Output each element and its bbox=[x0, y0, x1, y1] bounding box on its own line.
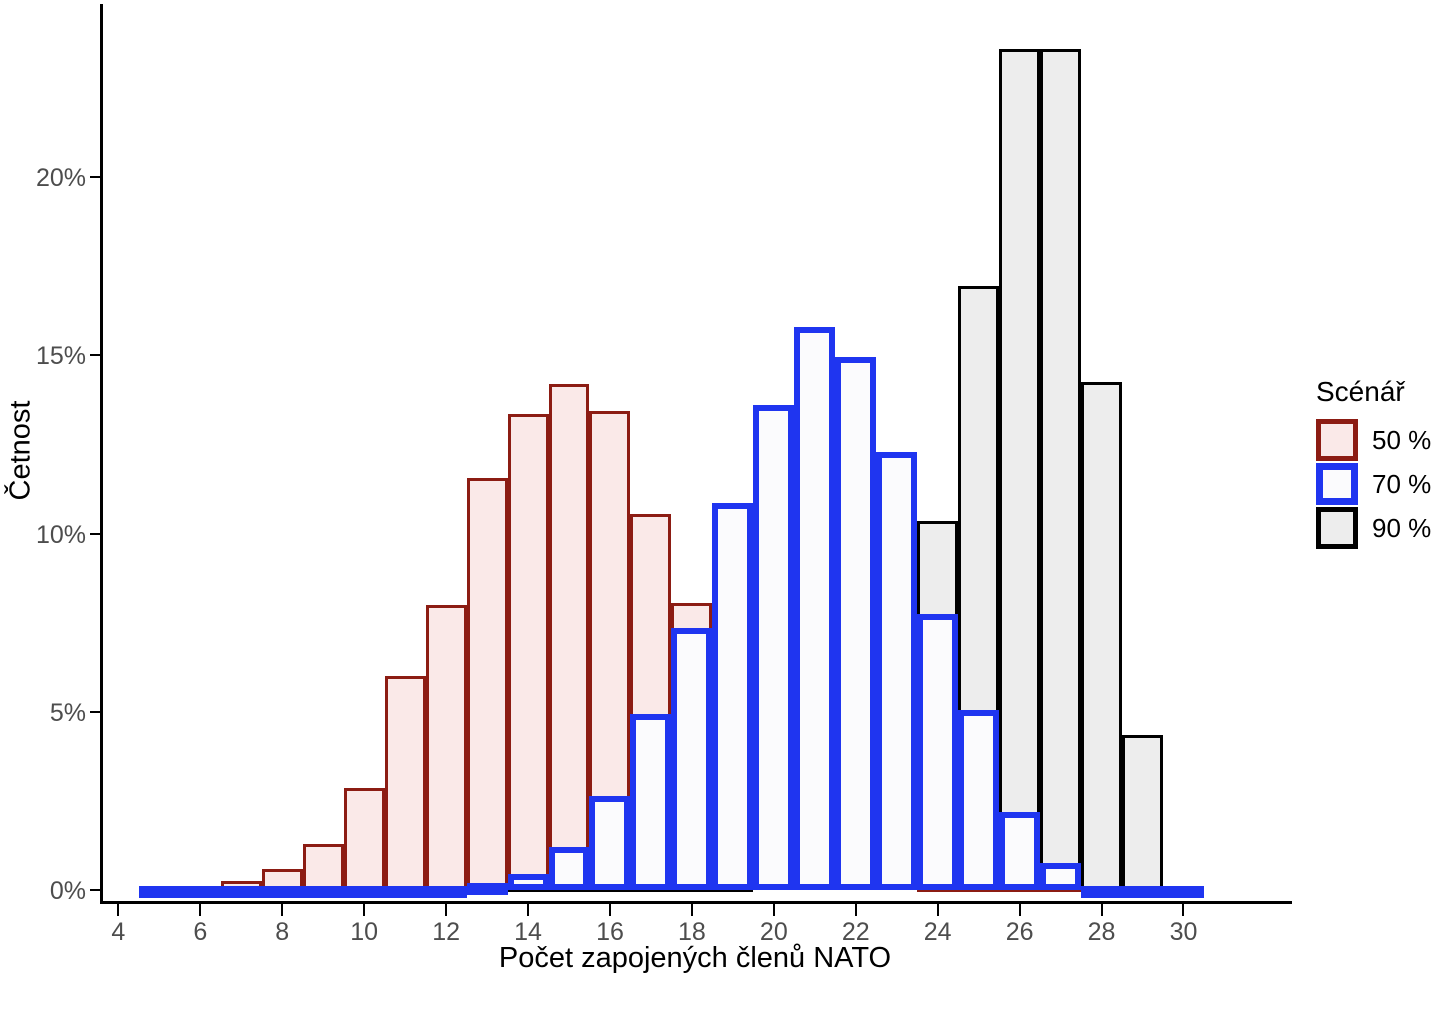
histogram-bar bbox=[385, 886, 426, 898]
legend-item-label: 50 % bbox=[1372, 425, 1431, 456]
histogram-bar bbox=[508, 874, 549, 890]
histogram-bar bbox=[344, 788, 385, 890]
histogram-bar bbox=[794, 327, 835, 890]
histogram-bar bbox=[303, 886, 344, 898]
histogram-bar bbox=[426, 886, 467, 898]
x-tick-mark bbox=[855, 904, 857, 916]
histogram-bar bbox=[1040, 863, 1081, 890]
y-tick-label: 0% bbox=[12, 877, 86, 906]
histogram-bar bbox=[1081, 886, 1122, 898]
histogram-bar bbox=[221, 886, 262, 898]
y-tick-label: 15% bbox=[12, 342, 86, 371]
legend-item-label: 70 % bbox=[1372, 469, 1431, 500]
histogram-bar bbox=[589, 796, 630, 890]
histogram-bar bbox=[385, 676, 426, 890]
y-tick-label: 5% bbox=[12, 699, 86, 728]
legend-item-label: 90 % bbox=[1372, 513, 1431, 544]
x-tick-mark bbox=[773, 904, 775, 916]
histogram-bar bbox=[671, 628, 712, 890]
histogram-bar bbox=[1122, 886, 1163, 898]
x-tick-mark bbox=[609, 904, 611, 916]
legend-item[interactable]: 70 % bbox=[1316, 462, 1456, 506]
histogram-bar bbox=[303, 844, 344, 890]
histogram-bar bbox=[835, 357, 876, 890]
legend-item[interactable]: 90 % bbox=[1316, 506, 1456, 550]
x-tick-mark bbox=[691, 904, 693, 916]
x-tick-mark bbox=[937, 904, 939, 916]
x-tick-mark bbox=[1019, 904, 1021, 916]
legend-item[interactable]: 50 % bbox=[1316, 418, 1456, 462]
histogram-bar bbox=[467, 478, 508, 890]
x-tick-mark bbox=[117, 904, 119, 916]
histogram-bar bbox=[999, 49, 1040, 890]
histogram-chart: Četnost 0%5%10%15%20% 468101214161820222… bbox=[0, 0, 1456, 1014]
histogram-bar bbox=[1122, 735, 1163, 890]
legend-key-swatch bbox=[1316, 419, 1358, 461]
y-axis-line bbox=[100, 4, 103, 901]
y-axis-title-text: Četnost bbox=[5, 400, 38, 500]
y-tick-mark bbox=[90, 533, 101, 535]
histogram-bar bbox=[262, 886, 303, 898]
histogram-bar bbox=[876, 452, 917, 890]
y-tick-mark bbox=[90, 711, 101, 713]
histogram-bar bbox=[180, 886, 221, 898]
y-tick-mark bbox=[90, 354, 101, 356]
histogram-bar bbox=[917, 614, 958, 890]
chart-legend: Scénář 50 %70 %90 % bbox=[1316, 376, 1456, 550]
x-tick-mark bbox=[199, 904, 201, 916]
histogram-bar bbox=[139, 886, 180, 898]
x-tick-mark bbox=[1182, 904, 1184, 916]
histogram-bar bbox=[753, 405, 794, 890]
legend-key-swatch bbox=[1316, 463, 1358, 505]
histogram-bar bbox=[1163, 886, 1204, 898]
histogram-bar bbox=[549, 384, 590, 890]
histogram-bar bbox=[344, 886, 385, 898]
y-tick-mark bbox=[90, 889, 101, 891]
y-tick-label: 10% bbox=[12, 521, 86, 550]
x-tick-mark bbox=[527, 904, 529, 916]
legend-key-swatch bbox=[1316, 507, 1358, 549]
y-axis-title: Četnost bbox=[0, 0, 42, 900]
legend-rows: 50 %70 %90 % bbox=[1316, 418, 1456, 550]
x-tick-mark bbox=[445, 904, 447, 916]
histogram-bar bbox=[712, 503, 753, 890]
y-tick-label: 20% bbox=[12, 164, 86, 193]
x-axis-line bbox=[100, 901, 1292, 904]
y-tick-mark bbox=[90, 176, 101, 178]
histogram-bar bbox=[630, 714, 671, 890]
histogram-bar bbox=[1040, 49, 1081, 890]
histogram-bar bbox=[1081, 382, 1122, 890]
histogram-bar bbox=[467, 883, 508, 895]
histogram-bar bbox=[549, 847, 590, 890]
histogram-bar bbox=[508, 414, 549, 890]
x-axis-title: Počet zapojených členů NATO bbox=[100, 942, 1290, 975]
x-tick-mark bbox=[363, 904, 365, 916]
histogram-bar bbox=[999, 812, 1040, 890]
histogram-bar bbox=[958, 710, 999, 890]
histogram-bar bbox=[426, 605, 467, 890]
x-tick-mark bbox=[281, 904, 283, 916]
x-tick-mark bbox=[1101, 904, 1103, 916]
legend-title: Scénář bbox=[1316, 376, 1456, 408]
